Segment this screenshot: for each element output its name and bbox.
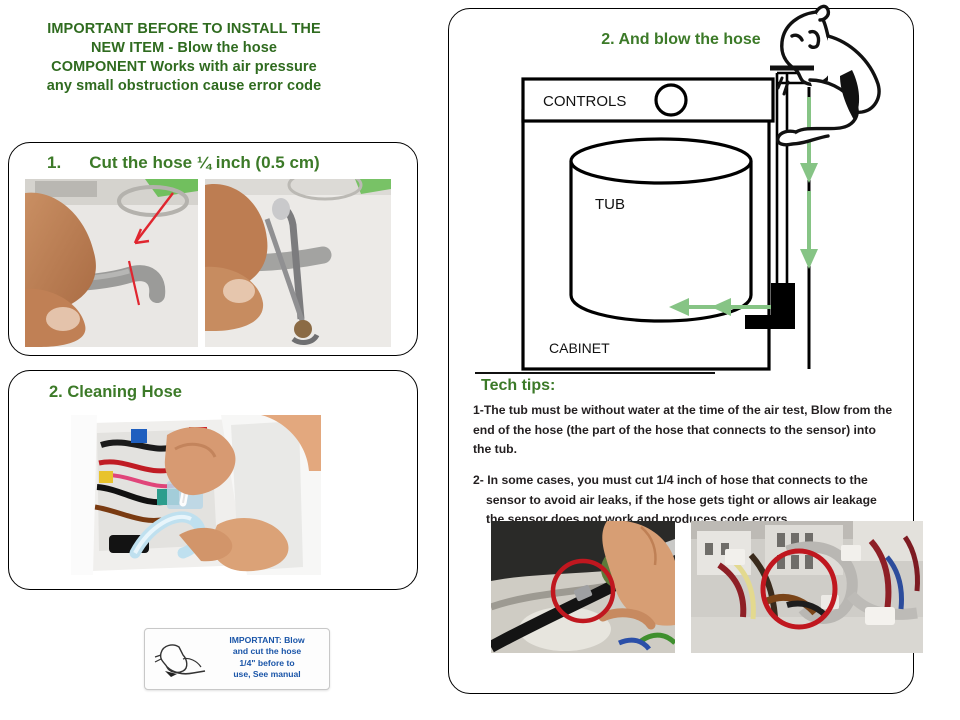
important-sticker: IMPORTANT: Blow and cut the hose 1/4" be… bbox=[144, 628, 330, 690]
cut-panel-title-text: Cut the hose ¼ inch (0.5 cm) bbox=[89, 153, 320, 172]
sticker-line-2: and cut the hose bbox=[211, 646, 323, 657]
tech-tip-1: 1-The tub must be without water at the t… bbox=[473, 401, 893, 460]
panel-cut-the-hose: 1.Cut the hose ¼ inch (0.5 cm) bbox=[8, 142, 418, 356]
panel-cleaning-hose: 2. Cleaning Hose bbox=[8, 370, 418, 590]
header-line-4: any small obstruction cause error code bbox=[8, 77, 360, 96]
diagram-controls-label: CONTROLS bbox=[543, 93, 626, 110]
tech-tip-2-line-1: 2- In some cases, you must cut 1/4 inch … bbox=[473, 473, 868, 487]
header-line-1: IMPORTANT BEFORE TO INSTALL THE bbox=[8, 20, 360, 39]
photo-cleaning-hose bbox=[71, 415, 321, 575]
cut-panel-number: 1. bbox=[47, 153, 61, 172]
cut-panel-title: 1.Cut the hose ¼ inch (0.5 cm) bbox=[47, 153, 320, 173]
photo-hose-cut-marking bbox=[25, 179, 198, 347]
cleaning-panel-title: 2. Cleaning Hose bbox=[49, 383, 182, 402]
photo-sensor-in-hand bbox=[491, 521, 675, 653]
diagram-cabinet-label: CABINET bbox=[549, 340, 610, 356]
poster-root: IMPORTANT BEFORE TO INSTALL THE NEW ITEM… bbox=[0, 0, 960, 720]
person-blowing-illustration bbox=[770, 2, 920, 147]
header-line-3: COMPONENT Works with air pressure bbox=[8, 58, 360, 77]
diagram-tub-label: TUB bbox=[595, 196, 625, 213]
tech-tip-2-line-2: sensor to avoid air leaks, if the hose g… bbox=[473, 491, 901, 511]
header-warning-text: IMPORTANT BEFORE TO INSTALL THE NEW ITEM… bbox=[8, 20, 360, 96]
sticker-line-3: 1/4" before to bbox=[211, 658, 323, 669]
photo-wiring-harness bbox=[691, 521, 923, 653]
photo-scissors-cutting-hose bbox=[205, 179, 391, 347]
blowing-person-icon bbox=[153, 641, 209, 679]
tips-divider bbox=[475, 372, 715, 374]
sticker-line-4: use, See manual bbox=[211, 669, 323, 680]
header-line-2: NEW ITEM - Blow the hose bbox=[8, 39, 360, 58]
sticker-line-1: IMPORTANT: Blow bbox=[211, 635, 323, 646]
tech-tips-title: Tech tips: bbox=[481, 377, 555, 395]
control-knob-icon bbox=[656, 85, 686, 115]
sticker-text: IMPORTANT: Blow and cut the hose 1/4" be… bbox=[211, 635, 323, 681]
